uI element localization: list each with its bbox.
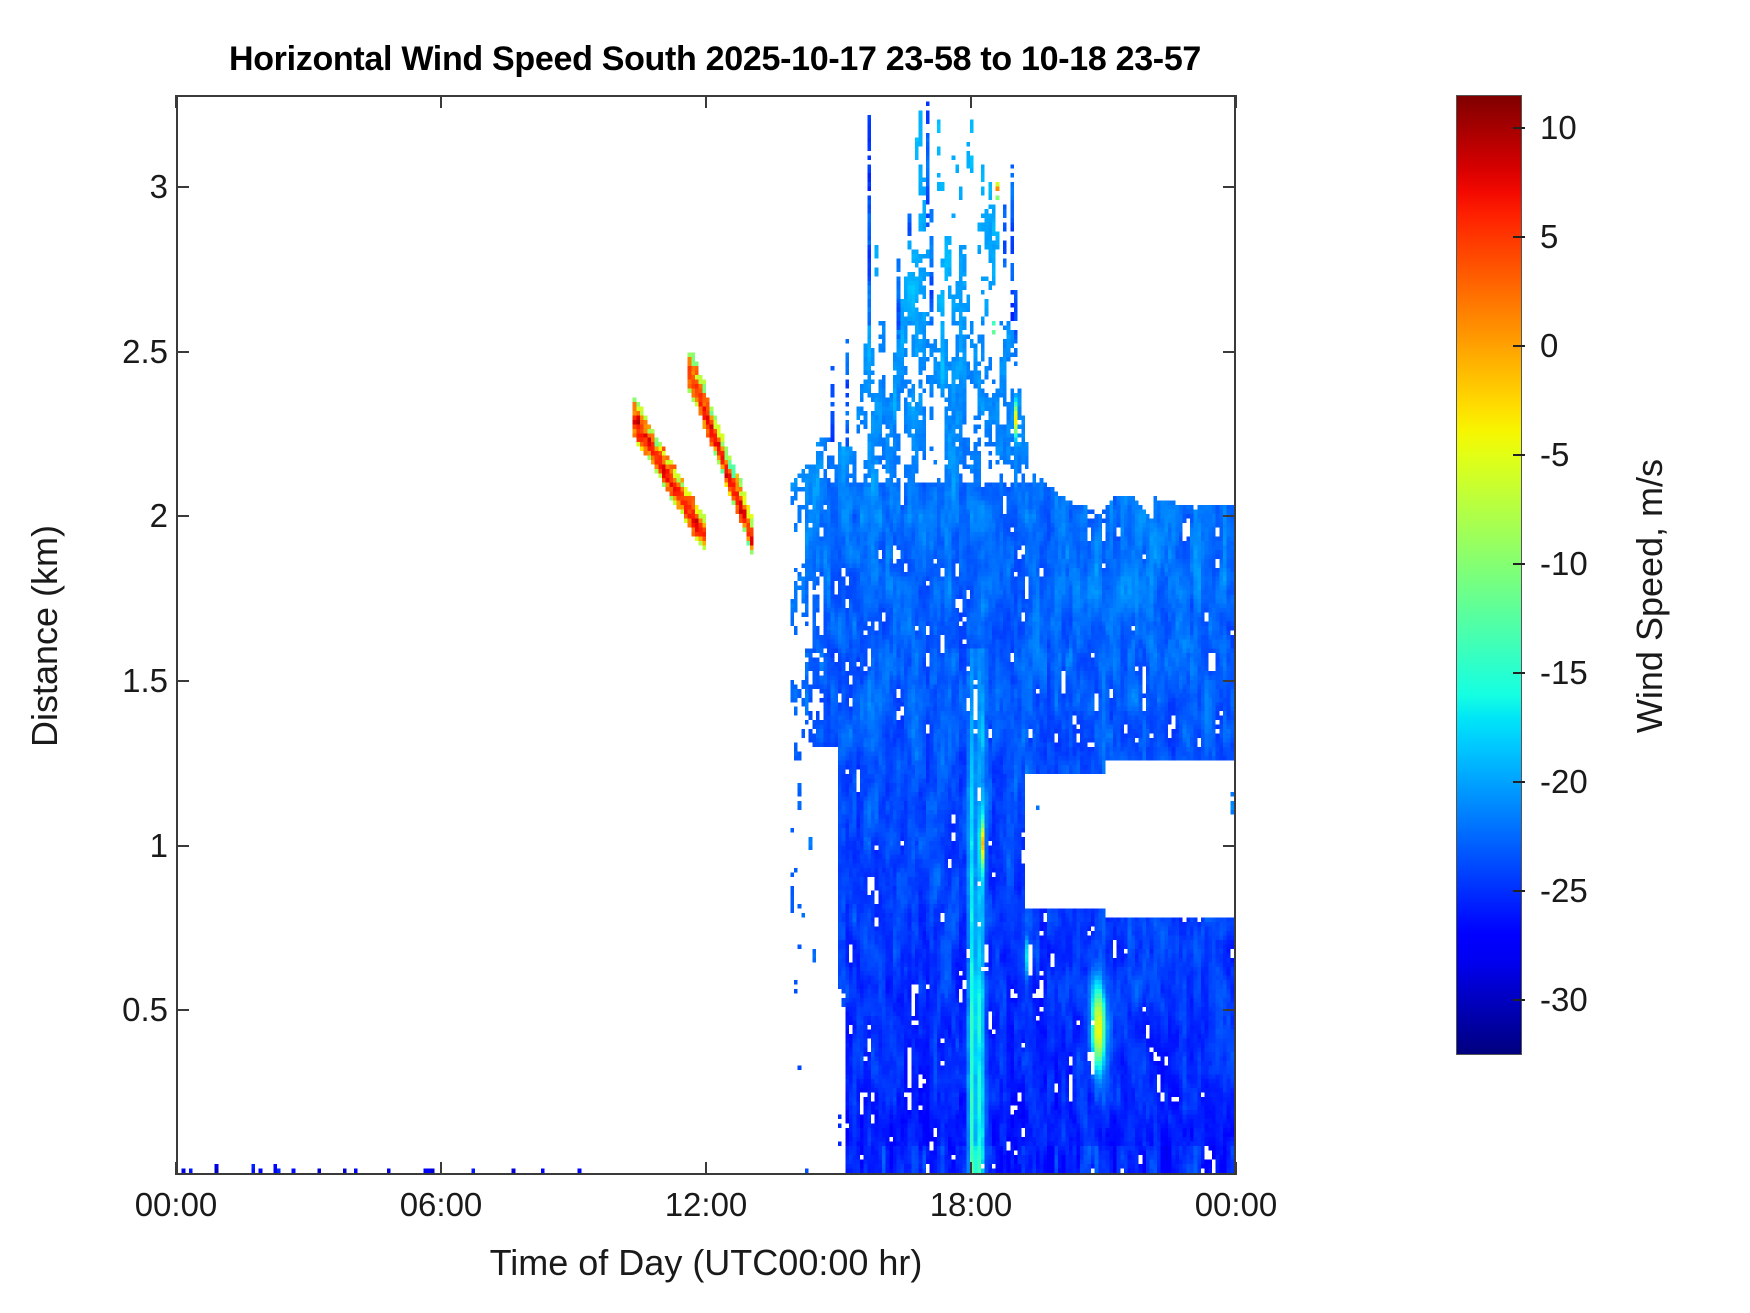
x-tick-label: 00:00 <box>135 1186 218 1224</box>
colorbar-tick-label: 10 <box>1540 109 1577 147</box>
colorbar-tick-label: 5 <box>1540 218 1558 256</box>
heatmap-container <box>178 97 1234 1173</box>
y-tick-mark <box>176 186 189 188</box>
page-title: Horizontal Wind Speed South 2025-10-17 2… <box>0 40 1430 79</box>
colorbar-tick-label: -25 <box>1540 872 1588 910</box>
colorbar-title: Wind Speed, m/s <box>1629 346 1671 846</box>
heatmap-canvas <box>178 97 1234 1173</box>
y-tick-mark-right <box>1223 186 1236 188</box>
x-tick-mark-top <box>970 95 972 108</box>
y-tick-mark-right <box>1223 515 1236 517</box>
x-tick-mark-top <box>440 95 442 108</box>
x-tick-label: 12:00 <box>665 1186 748 1224</box>
colorbar-tick-mark <box>1513 999 1525 1001</box>
x-tick-mark-top <box>1235 95 1237 108</box>
y-tick-mark <box>176 845 189 847</box>
y-tick-mark-right <box>1223 680 1236 682</box>
y-tick-mark <box>176 1009 189 1011</box>
y-tick-mark-right <box>1223 845 1236 847</box>
colorbar-gradient <box>1457 96 1521 1054</box>
colorbar-tick-label: -5 <box>1540 436 1569 474</box>
colorbar-tick-label: 0 <box>1540 327 1558 365</box>
x-tick-label: 00:00 <box>1195 1186 1278 1224</box>
y-tick-label: 3 <box>150 168 168 206</box>
y-tick-mark-right <box>1223 1009 1236 1011</box>
y-tick-label: 0.5 <box>122 991 168 1029</box>
y-tick-mark-right <box>1223 351 1236 353</box>
colorbar-tick-mark <box>1513 127 1525 129</box>
x-tick-mark <box>175 1162 177 1175</box>
y-tick-label: 1.5 <box>122 662 168 700</box>
colorbar-tick-mark <box>1513 890 1525 892</box>
colorbar-tick-mark <box>1513 454 1525 456</box>
y-tick-mark <box>176 680 189 682</box>
y-tick-label: 1 <box>150 827 168 865</box>
y-tick-label: 2 <box>150 497 168 535</box>
y-tick-mark <box>176 515 189 517</box>
x-tick-mark-top <box>175 95 177 108</box>
x-tick-mark <box>440 1162 442 1175</box>
figure-root: Horizontal Wind Speed South 2025-10-17 2… <box>0 0 1750 1313</box>
colorbar-tick-label: -10 <box>1540 545 1588 583</box>
colorbar-tick-mark <box>1513 672 1525 674</box>
y-tick-label: 2.5 <box>122 333 168 371</box>
x-tick-mark <box>970 1162 972 1175</box>
x-tick-mark <box>1235 1162 1237 1175</box>
plot-area[interactable] <box>176 95 1236 1175</box>
colorbar-tick-mark <box>1513 236 1525 238</box>
x-tick-mark-top <box>705 95 707 108</box>
colorbar-tick-mark <box>1513 563 1525 565</box>
x-tick-label: 06:00 <box>400 1186 483 1224</box>
x-tick-mark <box>705 1162 707 1175</box>
y-axis-title: Distance (km) <box>24 386 66 886</box>
colorbar-tick-label: -30 <box>1540 981 1588 1019</box>
x-tick-label: 18:00 <box>930 1186 1013 1224</box>
colorbar-tick-mark <box>1513 781 1525 783</box>
x-axis-title: Time of Day (UTC00:00 hr) <box>176 1242 1236 1284</box>
colorbar-tick-mark <box>1513 345 1525 347</box>
colorbar[interactable] <box>1456 95 1522 1055</box>
colorbar-tick-label: -15 <box>1540 654 1588 692</box>
y-tick-mark <box>176 351 189 353</box>
colorbar-tick-label: -20 <box>1540 763 1588 801</box>
